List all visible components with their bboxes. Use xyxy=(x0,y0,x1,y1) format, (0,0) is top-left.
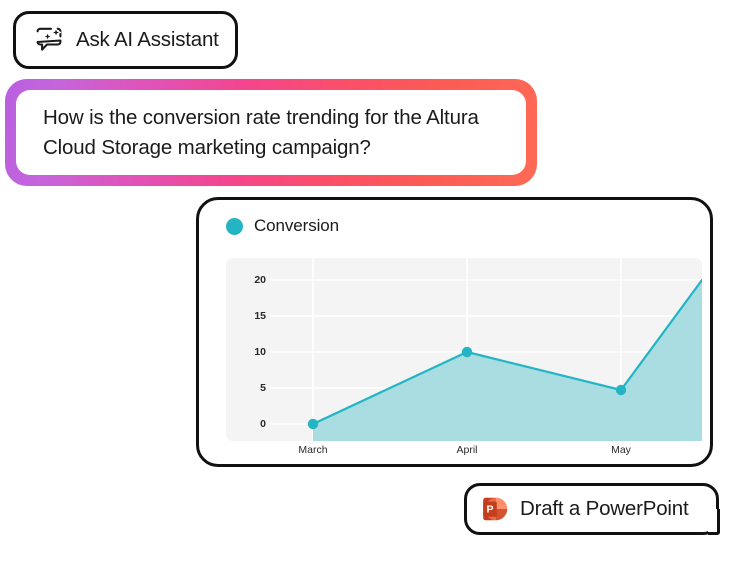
screenshot-stage: Ask AI Assistant How is the conversion r… xyxy=(0,0,750,562)
data-point-april[interactable] xyxy=(462,347,472,357)
legend-label-conversion: Conversion xyxy=(254,216,339,236)
y-tick-20: 20 xyxy=(254,274,266,286)
x-axis-tick-labels: March April May xyxy=(270,444,702,464)
chart-plot-area: 20 15 10 5 0 xyxy=(226,258,702,441)
x-tick-march: March xyxy=(298,444,327,456)
data-point-may[interactable] xyxy=(616,385,626,395)
y-tick-10: 10 xyxy=(254,346,266,358)
chart-legend: Conversion xyxy=(226,216,339,236)
ask-ai-assistant-label: Ask AI Assistant xyxy=(76,28,219,52)
prompt-card-gradient-border: How is the conversion rate trending for … xyxy=(5,79,537,186)
x-tick-april: April xyxy=(456,444,477,456)
conversion-area-chart xyxy=(270,258,702,441)
draft-powerpoint-label: Draft a PowerPoint xyxy=(520,497,688,521)
y-tick-15: 15 xyxy=(254,310,266,322)
prompt-text: How is the conversion rate trending for … xyxy=(43,103,504,163)
data-point-march[interactable] xyxy=(308,419,318,429)
conversion-chart-card: Conversion 20 15 10 5 0 xyxy=(196,197,713,467)
powerpoint-button-tail xyxy=(708,509,720,535)
y-tick-5: 5 xyxy=(260,382,266,394)
ask-ai-assistant-button[interactable]: Ask AI Assistant xyxy=(13,11,238,69)
x-tick-may: May xyxy=(611,444,631,456)
y-axis-tick-labels: 20 15 10 5 0 xyxy=(226,258,270,441)
draft-powerpoint-button[interactable]: P Draft a PowerPoint xyxy=(464,483,719,535)
prompt-card[interactable]: How is the conversion rate trending for … xyxy=(16,90,526,175)
svg-text:P: P xyxy=(486,503,493,515)
powerpoint-icon: P xyxy=(482,496,508,522)
ai-chat-sparkle-icon xyxy=(35,27,63,53)
y-tick-0: 0 xyxy=(260,418,266,430)
legend-color-dot xyxy=(226,218,243,235)
